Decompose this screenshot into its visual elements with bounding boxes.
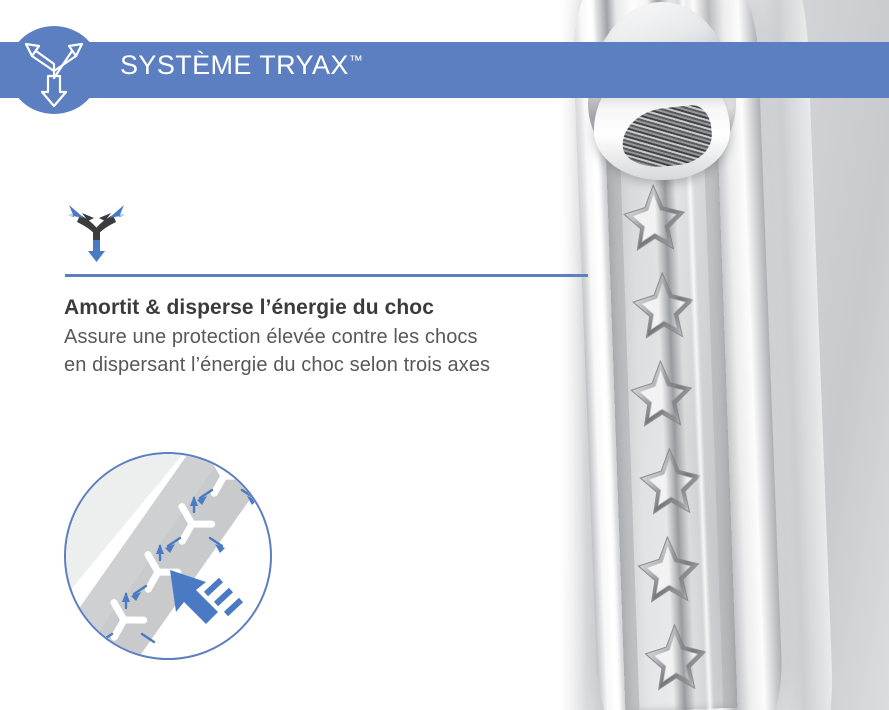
inset-clip: [66, 454, 270, 658]
inset-illustration: [66, 454, 270, 658]
tri-axis-arrows-icon-feature: [60, 196, 140, 264]
product-render-panel: [560, 0, 889, 710]
feature-description-line-1: Assure une protection élevée contre les …: [64, 326, 478, 349]
section-divider: [65, 274, 588, 277]
trademark-symbol: ™: [349, 52, 363, 68]
header-badge: [8, 26, 100, 114]
product-left-fade: [560, 0, 586, 710]
impact-dispersion-diagram: [64, 452, 272, 660]
page-title-text: SYSTÈME TRYAX: [120, 50, 349, 80]
page-title: SYSTÈME TRYAX™: [120, 50, 363, 81]
feature-description-line-2: en dispersant l’énergie du choc selon tr…: [64, 354, 490, 377]
feature-headline: Amortit & disperse l’énergie du choc: [64, 296, 434, 320]
infographic-page: SYSTÈME TRYAX™ Amortit & disperse l’éner…: [0, 0, 889, 710]
tri-axis-arrows-icon: [8, 26, 100, 114]
